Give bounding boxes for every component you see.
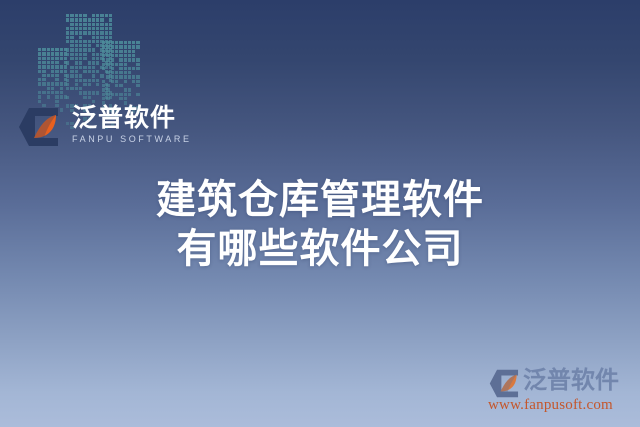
pixel-cityscape-icon [38,4,158,100]
promo-banner: 泛普软件 FANPU SOFTWARE 建筑仓库管理软件 有哪些软件公司 泛普软… [0,0,640,427]
watermark-logo-mark-icon [489,369,521,398]
brand-logo-text: 泛普软件 FANPU SOFTWARE [72,103,182,145]
page-title: 建筑仓库管理软件 有哪些软件公司 [0,176,640,274]
brand-name-en: FANPU SOFTWARE [72,133,182,145]
page-title-line-1: 建筑仓库管理软件 [0,176,640,225]
fanpu-logo-mark-icon [18,107,62,147]
page-title-line-2: 有哪些软件公司 [0,225,640,274]
brand-logo: 泛普软件 FANPU SOFTWARE [18,103,178,153]
watermark-url: www.fanpusoft.com [488,396,613,414]
watermark: 泛普软件 www.fanpusoft.com [487,363,632,419]
watermark-name-cn: 泛普软件 [523,366,619,396]
brand-name-cn: 泛普软件 [72,103,182,133]
